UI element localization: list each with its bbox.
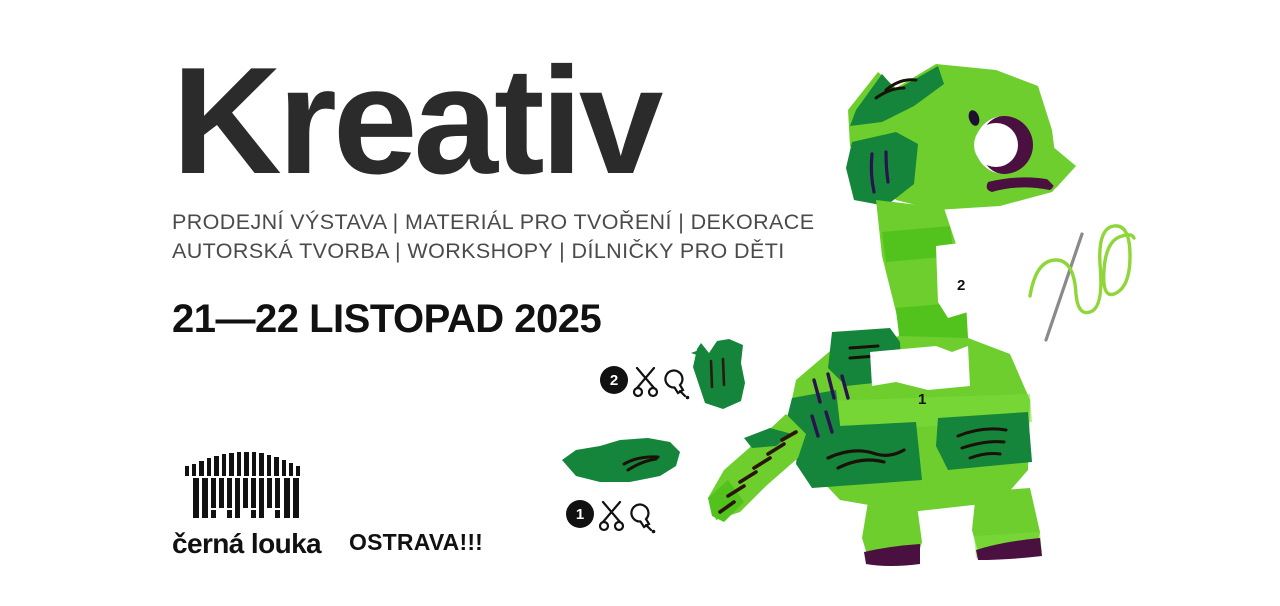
dinosaur-collage-illustration (700, 50, 1120, 570)
step-marker-2: 2 (600, 366, 628, 394)
paper-piece-dark-green-lower (556, 428, 686, 494)
poster-canvas: Kreativ PRODEJNÍ VÝSTAVA | MATERIÁL PRO … (0, 0, 1280, 606)
scissors-icon (634, 368, 657, 396)
paper-patch-1 (870, 346, 970, 390)
step-marker-2-number: 2 (610, 372, 618, 389)
city-label: OSTRAVA!!! (349, 529, 483, 560)
scissors-icon (600, 502, 623, 530)
dino-head (846, 64, 1076, 210)
step-marker-1: 1 (566, 500, 594, 528)
paper-patch-1-label: 1 (918, 391, 926, 408)
dino-tail (708, 414, 806, 522)
logo-block[interactable]: černá louka OSTRAVA!!! (172, 450, 483, 560)
logo-wordmark: černá louka (172, 528, 321, 560)
arch-barcode-icon (177, 450, 317, 520)
glue-bottle-icon (631, 505, 655, 534)
tools-icon-group-1 (598, 496, 660, 536)
cerna-louka-logo[interactable]: černá louka (172, 450, 321, 560)
step-marker-1-number: 1 (576, 506, 584, 523)
paper-patch-2-label: 2 (957, 277, 965, 294)
